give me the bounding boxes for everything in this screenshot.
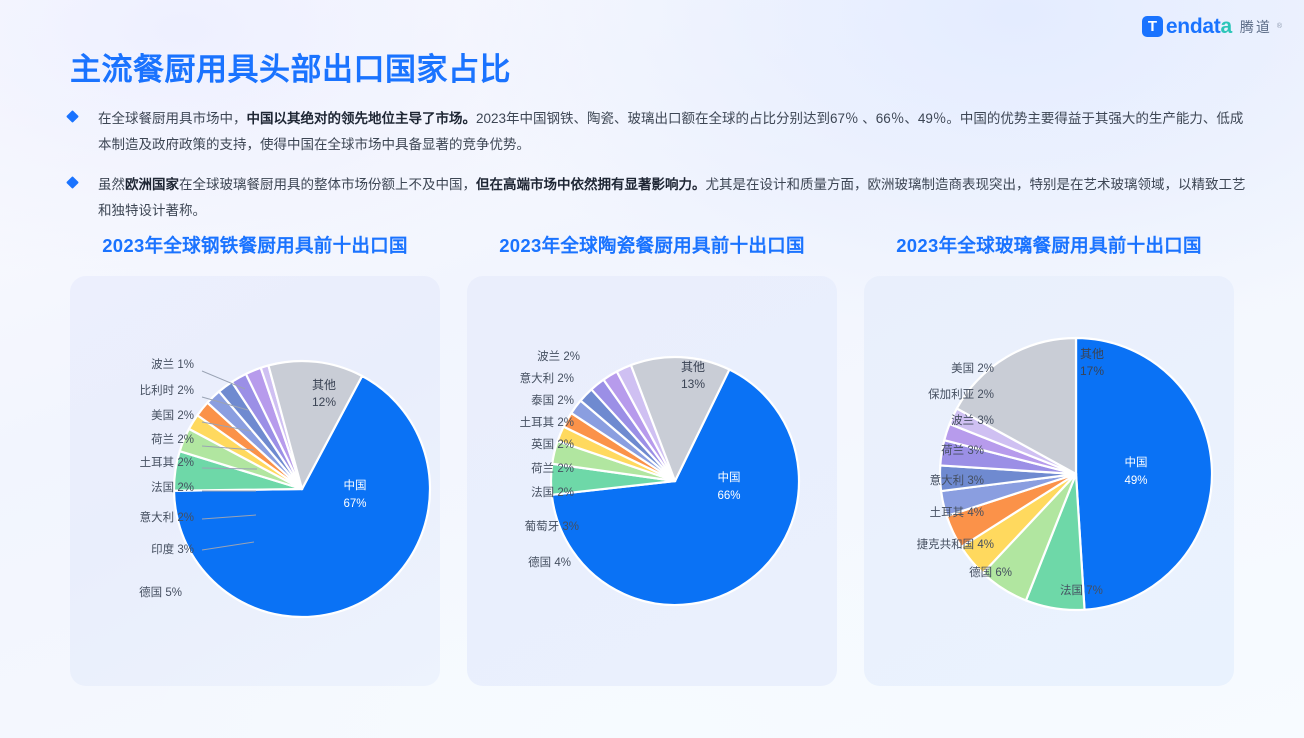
pie-slice-label: 荷兰 2% xyxy=(151,433,194,446)
bullet-emphasis: 欧洲国家 xyxy=(125,177,179,192)
bullet-item: 在全球餐厨用具市场中，中国以其绝对的领先地位主导了市场。2023年中国钢铁、陶瓷… xyxy=(68,106,1248,158)
logo-mark-icon: T xyxy=(1142,16,1163,37)
charts-row: 2023年全球钢铁餐厨用具前十出口国 其他12%波兰 1%比利时 2%美国 2%… xyxy=(0,232,1304,686)
pie-slice-label: 捷克共和国 4% xyxy=(917,537,994,551)
pie-slice-label: 其他 xyxy=(312,378,336,392)
pie-slice-label: 保加利亚 2% xyxy=(928,387,994,401)
bullet-text: 虽然欧洲国家在全球玻璃餐厨用具的整体市场份额上不及中国，但在高端市场中依然拥有显… xyxy=(98,172,1248,224)
pie-slice-value: 17% xyxy=(1080,364,1104,378)
bullet-span: 在全球餐厨用具市场中， xyxy=(98,111,247,126)
bullet-emphasis: 中国以其绝对的领先地位主导了市场。 xyxy=(247,111,477,126)
slide-root: T endata 腾道 ® 主流餐厨用具头部出口国家占比 在全球餐厨用具市场中，… xyxy=(0,0,1304,738)
chart-column-steel: 2023年全球钢铁餐厨用具前十出口国 其他12%波兰 1%比利时 2%美国 2%… xyxy=(70,232,440,686)
pie-slice-label: 土耳其 2% xyxy=(140,456,194,469)
pie-slice-label-primary: 中国 xyxy=(344,479,367,492)
bullet-span: 虽然 xyxy=(98,177,125,192)
pie-slice-value-primary: 66% xyxy=(717,490,740,502)
pie-slice-value: 12% xyxy=(312,395,336,409)
diamond-bullet-icon xyxy=(66,110,79,123)
pie-slice-label: 其他 xyxy=(1080,347,1104,361)
pie-slice-label: 意大利 2% xyxy=(140,510,194,524)
pie-slice-label: 印度 3% xyxy=(151,542,194,556)
logo-word-part2: a xyxy=(1220,15,1231,38)
pie-slice-label: 泰国 2% xyxy=(531,393,574,407)
bullet-item: 虽然欧洲国家在全球玻璃餐厨用具的整体市场份额上不及中国，但在高端市场中依然拥有显… xyxy=(68,172,1248,224)
pie-chart-card-ceramic: 其他13%波兰 2%意大利 2%泰国 2%土耳其 2%英国 2%荷兰 2%法国 … xyxy=(467,276,837,686)
pie-slice-label: 德国 5% xyxy=(139,585,182,599)
chart-title: 2023年全球陶瓷餐厨用具前十出口国 xyxy=(467,232,837,258)
pie-slice-label: 其他 xyxy=(681,360,705,374)
diamond-bullet-icon xyxy=(66,176,79,189)
pie-chart-glass: 其他17%美国 2%保加利亚 2%波兰 3%荷兰 3%意大利 3%土耳其 4%捷… xyxy=(864,276,1234,686)
pie-slice-label: 土耳其 2% xyxy=(520,416,574,429)
pie-slice-label: 法国 2% xyxy=(151,480,194,494)
pie-slice xyxy=(1076,338,1212,610)
pie-slice-label: 葡萄牙 3% xyxy=(525,520,579,533)
pie-slice-label: 意大利 2% xyxy=(520,371,574,385)
pie-chart-steel: 其他12%波兰 1%比利时 2%美国 2%荷兰 2%土耳其 2%法国 2%意大利… xyxy=(70,276,440,686)
pie-chart-card-steel: 其他12%波兰 1%比利时 2%美国 2%荷兰 2%土耳其 2%法国 2%意大利… xyxy=(70,276,440,686)
pie-slice-value: 13% xyxy=(681,377,705,391)
bullet-text: 在全球餐厨用具市场中，中国以其绝对的领先地位主导了市场。2023年中国钢铁、陶瓷… xyxy=(98,106,1248,158)
bullet-list: 在全球餐厨用具市场中，中国以其绝对的领先地位主导了市场。2023年中国钢铁、陶瓷… xyxy=(68,106,1248,238)
pie-slice-label: 美国 2% xyxy=(151,408,194,422)
pie-slice-label-primary: 中国 xyxy=(718,471,741,484)
pie-slice-label: 波兰 2% xyxy=(537,350,580,363)
chart-column-ceramic: 2023年全球陶瓷餐厨用具前十出口国 其他13%波兰 2%意大利 2%泰国 2%… xyxy=(467,232,837,686)
logo-chinese-name: 腾道 xyxy=(1240,17,1272,37)
chart-title: 2023年全球钢铁餐厨用具前十出口国 xyxy=(70,232,440,258)
page-title: 主流餐厨用具头部出口国家占比 xyxy=(70,44,511,89)
pie-slice-label-primary: 中国 xyxy=(1125,456,1148,469)
pie-chart-card-glass: 其他17%美国 2%保加利亚 2%波兰 3%荷兰 3%意大利 3%土耳其 4%捷… xyxy=(864,276,1234,686)
pie-slice-label: 波兰 3% xyxy=(951,414,994,427)
logo-word-part1: endat xyxy=(1166,15,1221,38)
bullet-span: 在全球玻璃餐厨用具的整体市场份额上不及中国， xyxy=(179,177,476,192)
pie-slice-value-primary: 49% xyxy=(1124,475,1147,487)
pie-slice-label: 荷兰 2% xyxy=(531,462,574,475)
pie-slice-label: 德国 4% xyxy=(528,555,571,569)
pie-slice-label: 英国 2% xyxy=(531,437,574,451)
tendata-logo: T endata 腾道 ® xyxy=(1142,16,1282,37)
logo-wordmark: endata xyxy=(1166,16,1232,37)
pie-slice-label: 比利时 2% xyxy=(140,384,194,397)
bullet-emphasis: 但在高端市场中依然拥有显著影响力。 xyxy=(476,177,706,192)
pie-slice-label: 德国 6% xyxy=(969,565,1012,579)
pie-slice-label: 意大利 3% xyxy=(930,473,984,487)
pie-slice-label: 荷兰 3% xyxy=(941,444,984,457)
pie-slice-label: 土耳其 4% xyxy=(930,506,984,519)
pie-slice-label: 法国 2% xyxy=(531,485,574,499)
pie-slice-label: 美国 2% xyxy=(951,361,994,375)
pie-slice-label: 法国 7% xyxy=(1060,583,1103,597)
chart-column-glass: 2023年全球玻璃餐厨用具前十出口国 其他17%美国 2%保加利亚 2%波兰 3… xyxy=(864,232,1234,686)
pie-slice-value-primary: 67% xyxy=(343,498,366,510)
pie-chart-ceramic: 其他13%波兰 2%意大利 2%泰国 2%土耳其 2%英国 2%荷兰 2%法国 … xyxy=(467,276,837,686)
trademark-symbol: ® xyxy=(1277,23,1282,30)
chart-title: 2023年全球玻璃餐厨用具前十出口国 xyxy=(864,232,1234,258)
pie-slice-label: 波兰 1% xyxy=(151,358,194,371)
